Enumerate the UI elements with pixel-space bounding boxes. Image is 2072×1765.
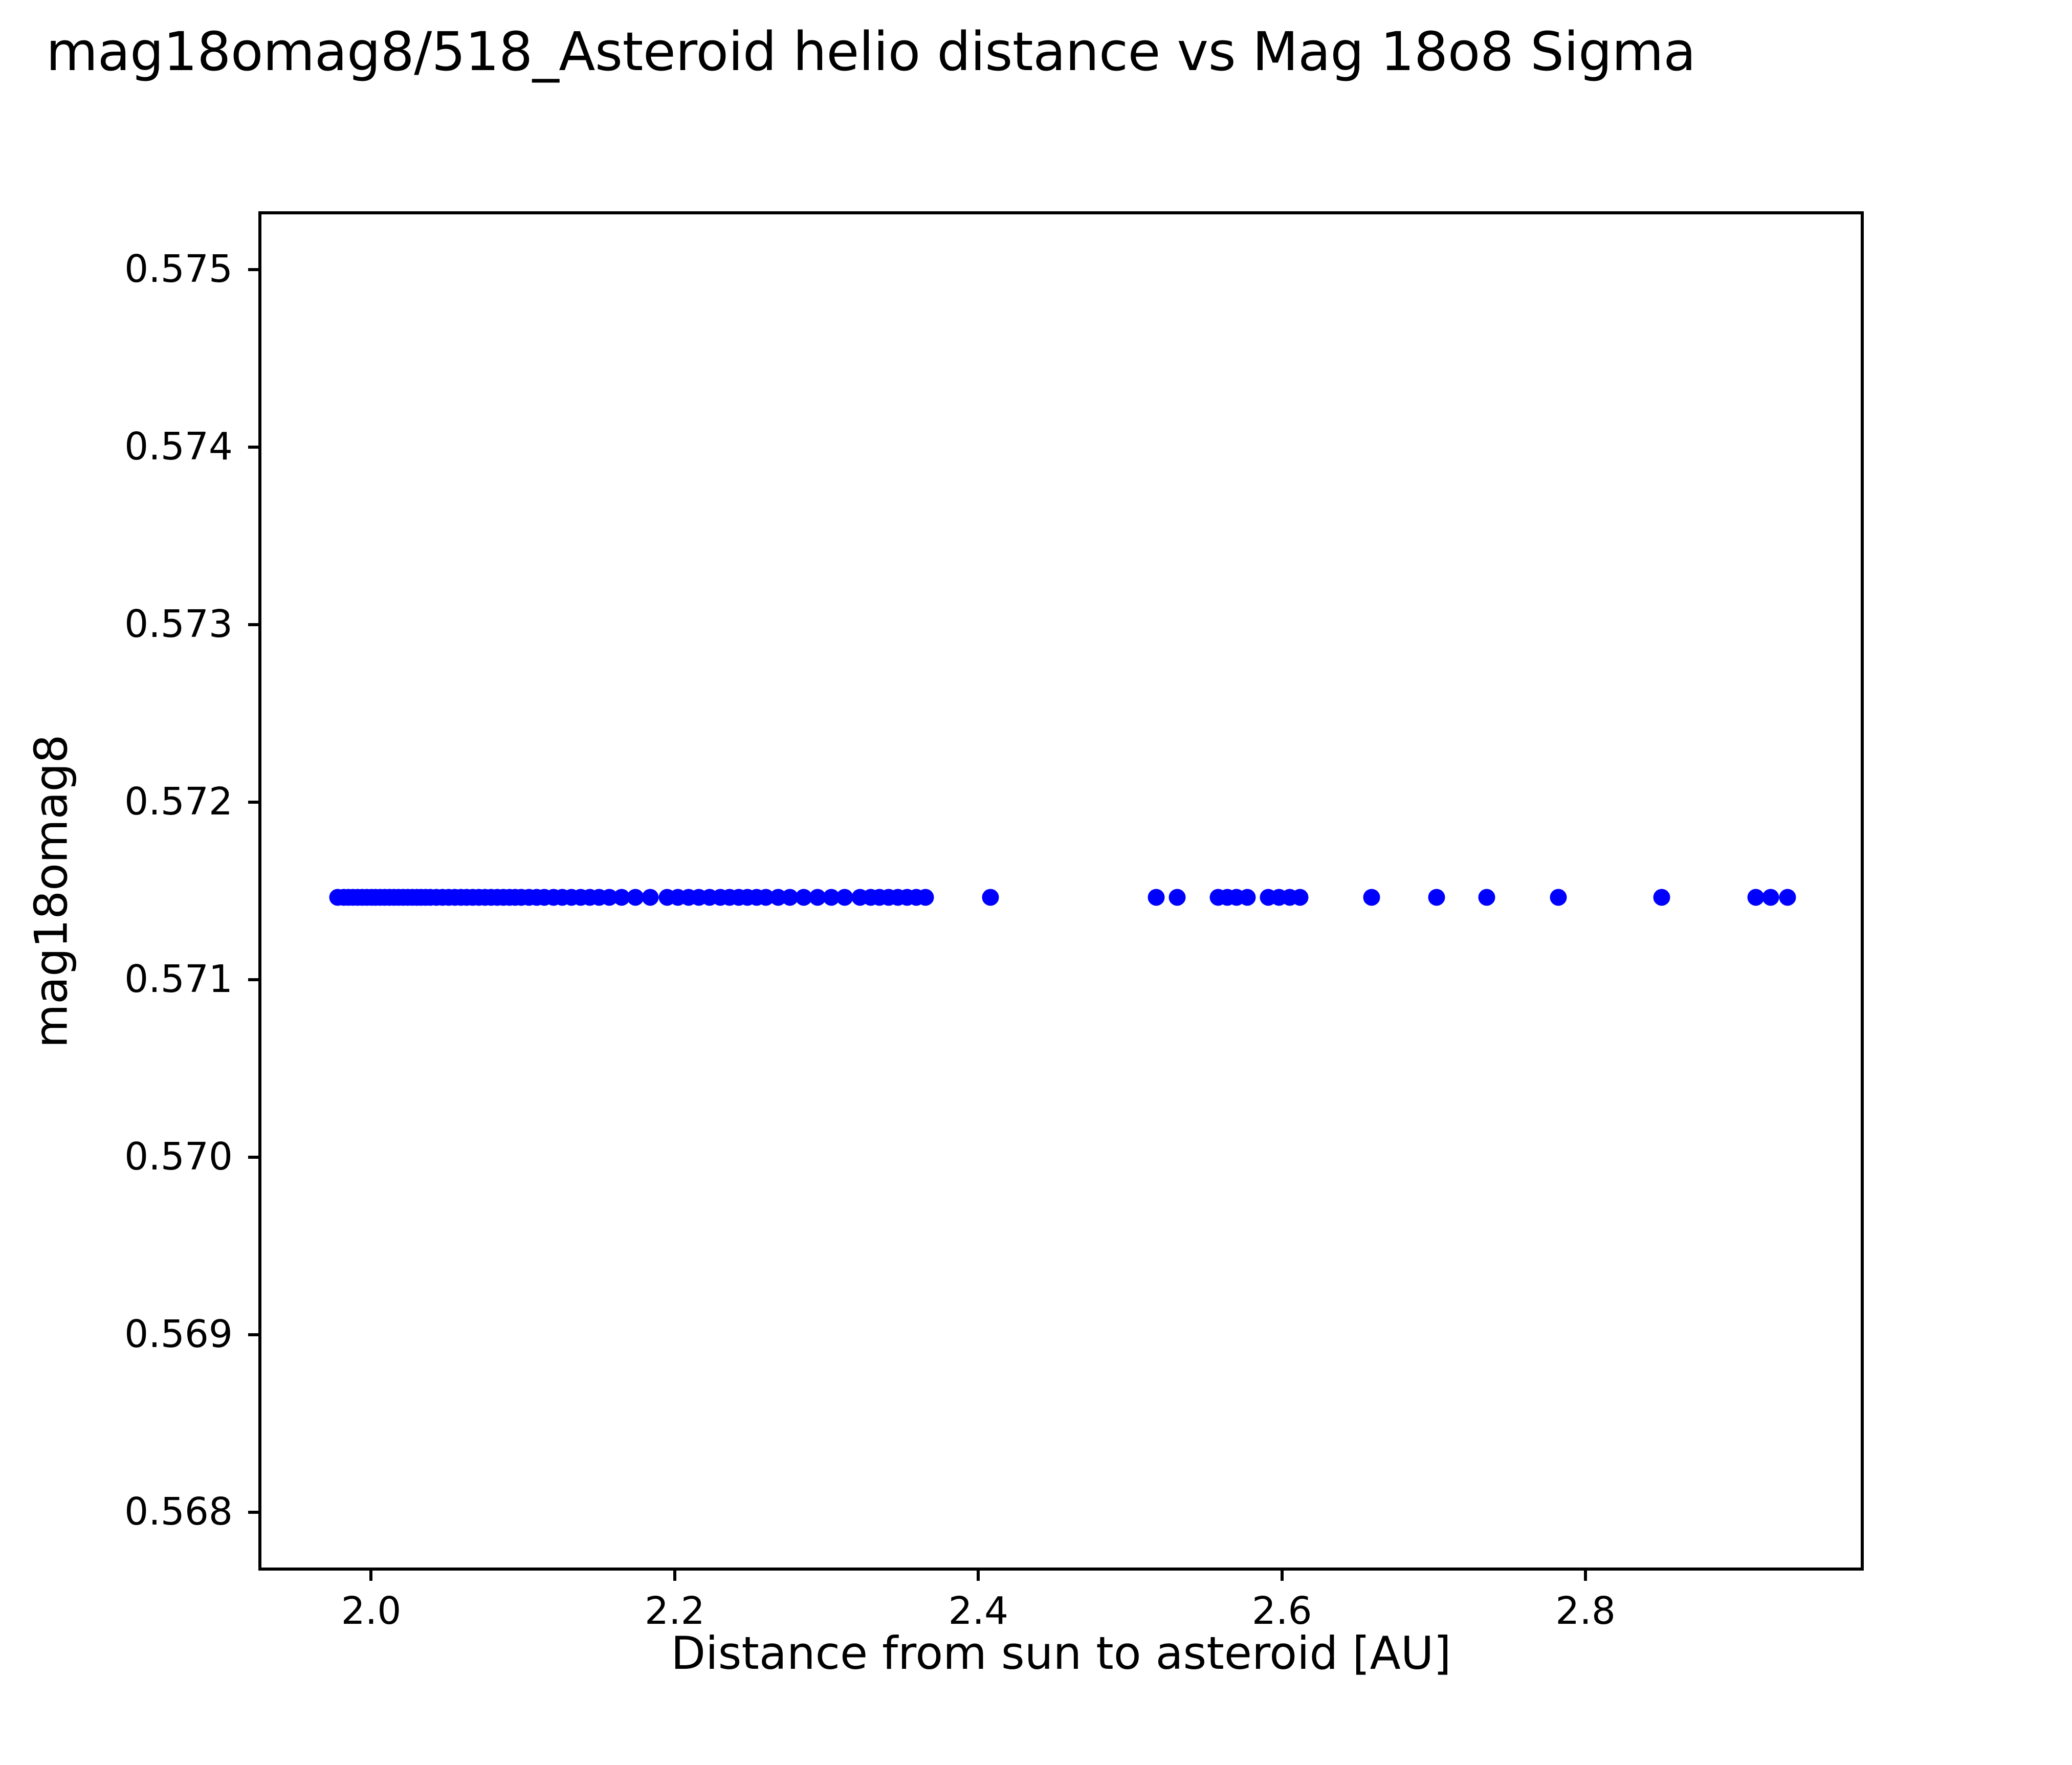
data-point [1239,889,1255,906]
y-tick-mark [248,268,258,271]
y-axis-label-container: mag18omag8 [0,211,102,1571]
data-point [1148,889,1164,906]
data-point [917,889,934,906]
y-tick-label: 0.568 [0,1490,233,1534]
x-tick-mark [369,1571,372,1581]
data-point [1428,889,1445,906]
y-tick-label: 0.571 [0,957,233,1001]
x-tick-mark [977,1571,980,1581]
y-tick-mark [248,801,258,804]
data-point [642,889,659,906]
y-tick-label: 0.573 [0,602,233,646]
x-tick-mark [673,1571,676,1581]
y-tick-label: 0.569 [0,1312,233,1356]
y-tick-mark [248,446,258,449]
y-tick-mark [248,1511,258,1514]
y-tick-label: 0.572 [0,780,233,824]
y-tick-label: 0.575 [0,247,233,291]
chart-page: mag18omag8/518_Asteroid helio distance v… [0,0,2072,1765]
data-point [1550,889,1567,906]
y-tick-label: 0.570 [0,1135,233,1179]
data-point [1479,889,1495,906]
data-point [982,889,999,906]
data-point [1747,889,1764,906]
y-tick-mark [248,623,258,626]
y-tick-label: 0.574 [0,425,233,469]
plot-area [258,211,1864,1571]
data-point [836,889,853,906]
y-tick-mark [248,1333,258,1336]
data-point [1169,889,1186,906]
data-point [1292,889,1309,906]
data-point [627,889,644,906]
x-tick-mark [1281,1571,1284,1581]
y-tick-mark [248,1156,258,1159]
page-title: mag18omag8/518_Asteroid helio distance v… [46,20,2041,83]
scatter-canvas [261,214,1861,1568]
data-point [1363,889,1380,906]
y-tick-mark [248,978,258,981]
data-point [1762,889,1779,906]
x-axis-label: Distance from sun to asteroid [AU] [258,1627,1864,1680]
x-tick-mark [1584,1571,1587,1581]
data-point [1653,889,1670,906]
data-point [1779,889,1796,906]
